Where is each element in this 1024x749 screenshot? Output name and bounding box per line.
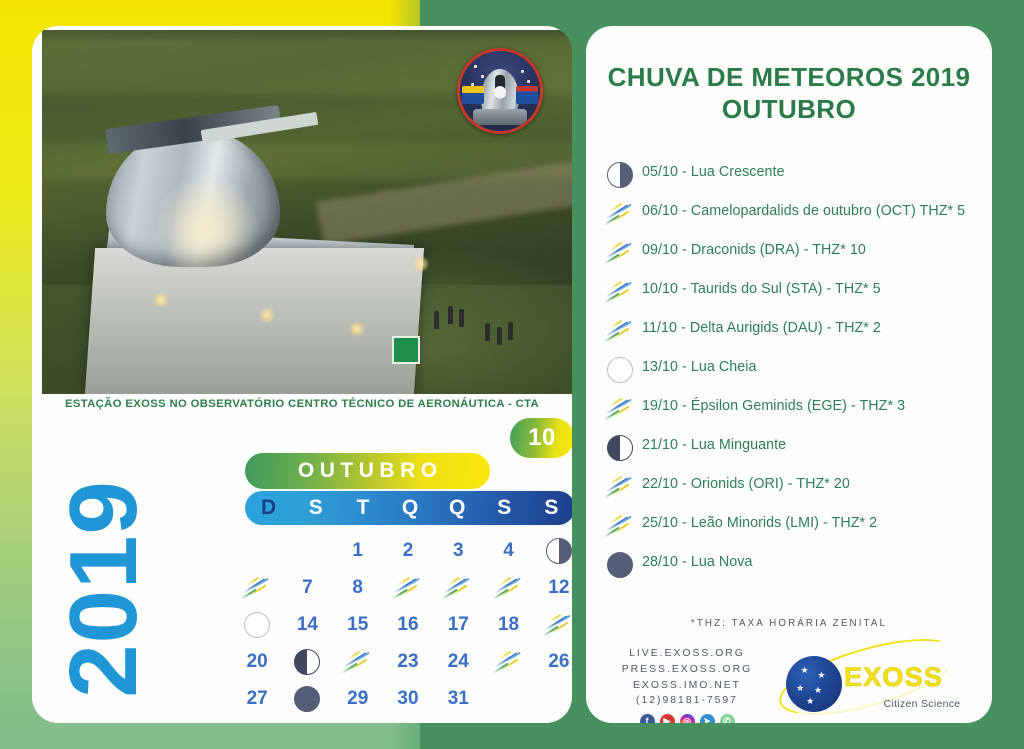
event-row: 22/10 - Orionids (ORI) - THZ* 20 (586, 472, 992, 511)
month-name-bar: OUTUBRO (245, 453, 490, 489)
event-label: 11/10 - Delta Aurigids (DAU) - THZ* 2 (642, 316, 984, 338)
logo-badge-left (462, 86, 484, 104)
calendar-day-meteor[interactable] (392, 575, 424, 601)
event-label: 28/10 - Lua Nova (642, 550, 984, 572)
meteor-icon (604, 396, 636, 422)
event-row: 21/10 - Lua Minguante (586, 433, 992, 472)
footer: LIVE.EXOSS.ORG PRESS.EXOSS.ORG EXOSS.IMO… (586, 646, 992, 723)
weekday-header-bar: D S T Q Q S S (245, 491, 572, 525)
logo-badge-right (516, 86, 538, 104)
event-row: 25/10 - Leão Minorids (LMI) - THZ* 2 (586, 511, 992, 550)
meteor-shower-card: CHUVA DE METEOROS 2019 OUTUBRO 05/10 - L… (586, 26, 992, 723)
event-icon-slot (598, 355, 642, 383)
weekday-header-q1: Q (386, 496, 433, 520)
photo-caption: ESTAÇÃO EXOSS NO OBSERVATÓRIO CENTRO TÉC… (32, 398, 572, 410)
whatsapp-icon[interactable]: ✆ (720, 714, 735, 723)
calendar-day-meteor[interactable] (342, 649, 374, 675)
meteor-icon (392, 575, 424, 601)
event-label: 19/10 - Épsilon Geminids (EGE) - THZ* 3 (642, 394, 984, 416)
weekday-header-s2: S (481, 496, 528, 520)
photo-lamp-glow (259, 307, 275, 323)
meteor-icon (604, 513, 636, 539)
month-number-badge: 10 (510, 418, 572, 458)
meteor-icon (604, 279, 636, 305)
calendar-day[interactable]: 31 (448, 689, 469, 708)
event-row: 11/10 - Delta Aurigids (DAU) - THZ* 2 (586, 316, 992, 355)
logo-tagline: Citizen Science (862, 698, 982, 710)
event-row: 09/10 - Draconids (DRA) - THZ* 10 (586, 238, 992, 277)
weekday-header-d: D (245, 496, 292, 520)
meteor-icon (342, 649, 374, 675)
event-icon-slot (598, 160, 642, 188)
calendar-day[interactable]: 26 (548, 652, 569, 671)
event-label: 21/10 - Lua Minguante (642, 433, 984, 455)
event-label: 09/10 - Draconids (DRA) - THZ* 10 (642, 238, 984, 260)
moon-minguante-icon (294, 649, 320, 675)
calendar-day[interactable]: 30 (397, 689, 418, 708)
calendar-grid: 1234781214151617182023242627293031 (232, 532, 572, 717)
meteor-icon (604, 474, 636, 500)
calendar-day-moon-crescent[interactable] (546, 538, 572, 564)
calendar-day[interactable]: 18 (498, 615, 519, 634)
meteor-icon (241, 575, 273, 601)
exoss-logo: ★ ★ ★ ★ ★ EXOSS Citizen Science (776, 646, 982, 723)
event-icon-slot (598, 238, 642, 266)
event-row: 10/10 - Taurids do Sul (STA) - THZ* 5 (586, 277, 992, 316)
calendar-day[interactable]: 27 (247, 689, 268, 708)
year-label: 2019 (56, 459, 152, 719)
calendar-day[interactable]: 20 (247, 652, 268, 671)
calendar-day[interactable]: 14 (297, 615, 318, 634)
event-icon-slot (598, 316, 642, 344)
title-line-1: CHUVA DE METEOROS 2019 (608, 62, 971, 92)
meteor-icon (604, 240, 636, 266)
logo-dome-base (473, 109, 527, 125)
event-label: 06/10 - Camelopardalids de outubro (OCT)… (642, 199, 984, 221)
calendar-day[interactable]: 8 (352, 578, 363, 597)
event-list: 05/10 - Lua Crescente06/10 - Cameloparda… (586, 160, 992, 589)
photo-lamp-glow (413, 256, 429, 272)
youtube-icon[interactable]: ▶ (660, 714, 675, 723)
calendar-day-meteor[interactable] (241, 575, 273, 601)
thz-footnote: *THZ: TAXA HORÁRIA ZENITAL (586, 618, 992, 629)
moon-full-icon (244, 612, 270, 638)
title-line-2: OUTUBRO (586, 94, 992, 126)
photo-green-sign (392, 336, 420, 364)
event-row: 06/10 - Camelopardalids de outubro (OCT)… (586, 199, 992, 238)
calendar-day[interactable]: 23 (397, 652, 418, 671)
event-row: 05/10 - Lua Crescente (586, 160, 992, 199)
event-icon-slot (598, 394, 642, 422)
instagram-icon[interactable]: ◎ (680, 714, 695, 723)
moon-minguante-icon (607, 435, 633, 461)
contact-block: LIVE.EXOSS.ORG PRESS.EXOSS.ORG EXOSS.IMO… (586, 646, 776, 723)
moon-full-icon (607, 357, 633, 383)
calendar-day-meteor[interactable] (493, 649, 525, 675)
contact-live-url[interactable]: LIVE.EXOSS.ORG (598, 646, 776, 662)
observatory-circular-logo (457, 48, 543, 134)
event-icon-slot (598, 472, 642, 500)
meteor-icon (604, 201, 636, 227)
poster-root: ESTAÇÃO EXOSS NO OBSERVATÓRIO CENTRO TÉC… (0, 0, 1024, 749)
moon-crescent-icon (546, 538, 572, 564)
event-icon-slot (598, 550, 642, 578)
calendar-day[interactable]: 7 (302, 578, 313, 597)
contact-press-url[interactable]: PRESS.EXOSS.ORG (598, 662, 776, 678)
calendar-day[interactable]: 29 (347, 689, 368, 708)
moon-nova-icon (607, 552, 633, 578)
calendar-day[interactable]: 24 (448, 652, 469, 671)
calendar-day[interactable]: 2 (403, 541, 414, 560)
moon-crescent-icon (607, 162, 633, 188)
weekday-header-t: T (339, 496, 386, 520)
meteor-icon (543, 612, 572, 638)
calendar-day[interactable]: 17 (448, 615, 469, 634)
logo-wordmark: EXOSS (844, 662, 943, 693)
calendar-day-meteor[interactable] (442, 575, 474, 601)
meteor-icon (493, 575, 525, 601)
event-label: 13/10 - Lua Cheia (642, 355, 984, 377)
contact-imo-url[interactable]: EXOSS.IMO.NET (598, 678, 776, 694)
calendar-day[interactable]: 16 (397, 615, 418, 634)
photo-people-group (429, 299, 546, 365)
event-row: 19/10 - Épsilon Geminids (EGE) - THZ* 3 (586, 394, 992, 433)
weekday-header-q2: Q (434, 496, 481, 520)
observatory-photo (42, 30, 572, 394)
meteor-icon (442, 575, 474, 601)
calendar-day-moon-minguante[interactable] (294, 649, 320, 675)
weekday-header-s3: S (528, 496, 572, 520)
calendar-day-meteor[interactable] (493, 575, 525, 601)
calendar-day[interactable]: 3 (453, 541, 464, 560)
event-label: 10/10 - Taurids do Sul (STA) - THZ* 5 (642, 277, 984, 299)
event-row: 13/10 - Lua Cheia (586, 355, 992, 394)
calendar-day-moon-full[interactable] (244, 612, 270, 638)
event-icon-slot (598, 277, 642, 305)
calendar-day-moon-nova[interactable] (294, 686, 320, 712)
calendar-day-meteor[interactable] (543, 612, 572, 638)
facebook-icon[interactable]: f (640, 714, 655, 723)
event-icon-slot (598, 511, 642, 539)
weekday-header-s1: S (292, 496, 339, 520)
event-row: 28/10 - Lua Nova (586, 550, 992, 589)
month-name-label: OUTUBRO (292, 459, 442, 483)
meteor-icon (493, 649, 525, 675)
calendar-day[interactable]: 15 (347, 615, 368, 634)
contact-phone[interactable]: (12)98181-7597 (598, 693, 776, 709)
event-icon-slot (598, 199, 642, 227)
telegram-icon[interactable]: ➤ (700, 714, 715, 723)
calendar-day[interactable]: 1 (352, 541, 363, 560)
event-label: 22/10 - Orionids (ORI) - THZ* 20 (642, 472, 984, 494)
meteor-icon (604, 318, 636, 344)
calendar-day[interactable]: 12 (548, 578, 569, 597)
page-title: CHUVA DE METEOROS 2019 OUTUBRO (586, 62, 992, 125)
observatory-building (85, 248, 424, 394)
social-icon-row: f ▶ ◎ ➤ ✆ (598, 714, 776, 723)
calendar-day[interactable]: 4 (503, 541, 514, 560)
moon-nova-icon (294, 686, 320, 712)
calendar-card: ESTAÇÃO EXOSS NO OBSERVATÓRIO CENTRO TÉC… (32, 26, 572, 723)
event-label: 25/10 - Leão Minorids (LMI) - THZ* 2 (642, 511, 984, 533)
logo-planet-icon: ★ ★ ★ ★ ★ (786, 656, 842, 712)
event-icon-slot (598, 433, 642, 461)
event-label: 05/10 - Lua Crescente (642, 160, 984, 182)
